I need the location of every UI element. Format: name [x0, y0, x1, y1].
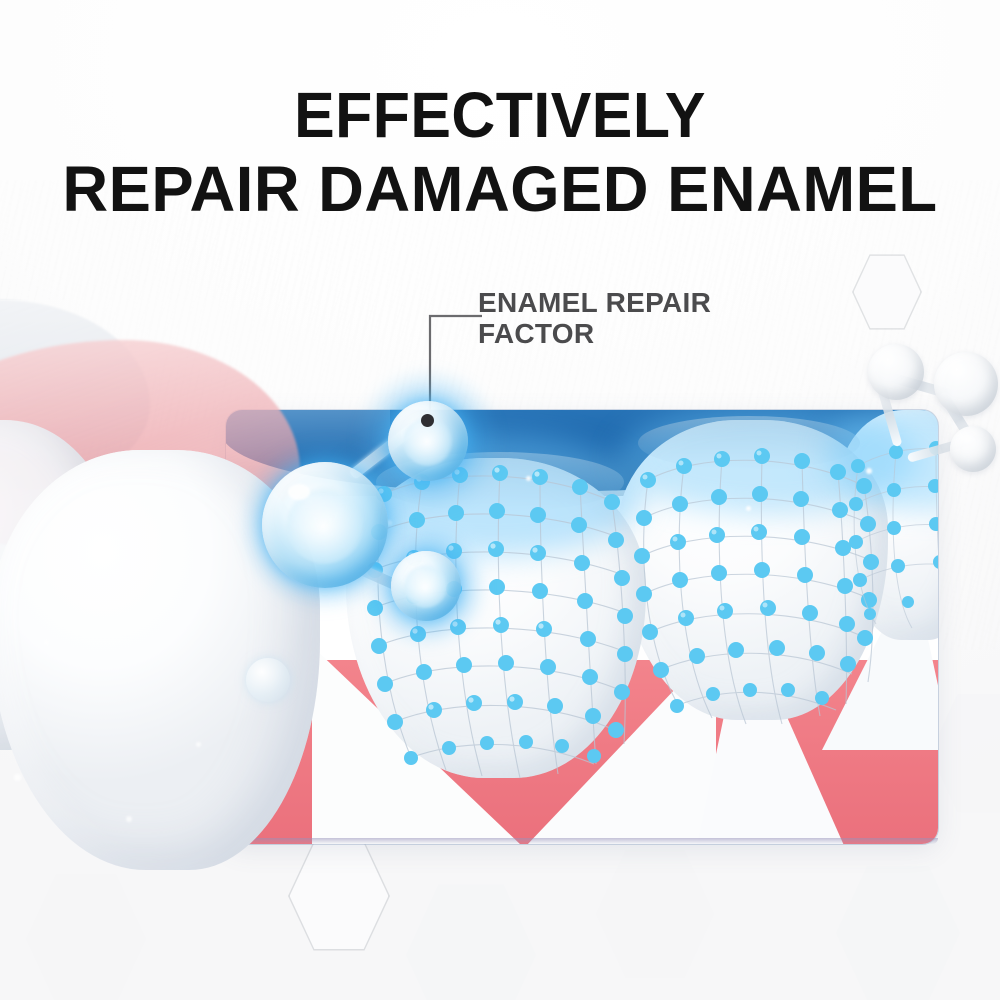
glass-sphere: [934, 352, 998, 416]
callout-line-1: ENAMEL REPAIR: [478, 287, 808, 318]
glass-sphere: [950, 426, 996, 472]
sparkle-icon: [746, 506, 751, 511]
headline-line-2: REPAIR DAMAGED ENAMEL: [5, 158, 995, 220]
headline-line-1: EFFECTIVELY: [25, 84, 975, 146]
callout-label: ENAMEL REPAIR FACTOR: [478, 287, 808, 350]
sparkle-icon: [44, 640, 49, 645]
sparkle-icon: [526, 476, 531, 481]
leader-anchor-dot-icon: [421, 414, 434, 427]
headline: EFFECTIVELY REPAIR DAMAGED ENAMEL: [0, 84, 1000, 220]
glass-sphere: [868, 344, 924, 400]
callout-line-2: FACTOR: [478, 318, 808, 349]
sparkle-icon: [196, 742, 201, 747]
sparkle-icon: [14, 774, 21, 781]
foreground-tooth-model: [0, 300, 390, 860]
poster-canvas: EFFECTIVELY REPAIR DAMAGED ENAMEL ENAMEL…: [0, 0, 1000, 1000]
glass-molecule-decoration: [846, 330, 1000, 510]
leader-line-icon: [424, 313, 486, 425]
sparkle-icon: [126, 816, 132, 822]
foreground-fade: [0, 300, 390, 860]
enamel-bubble-icon: [246, 658, 290, 702]
